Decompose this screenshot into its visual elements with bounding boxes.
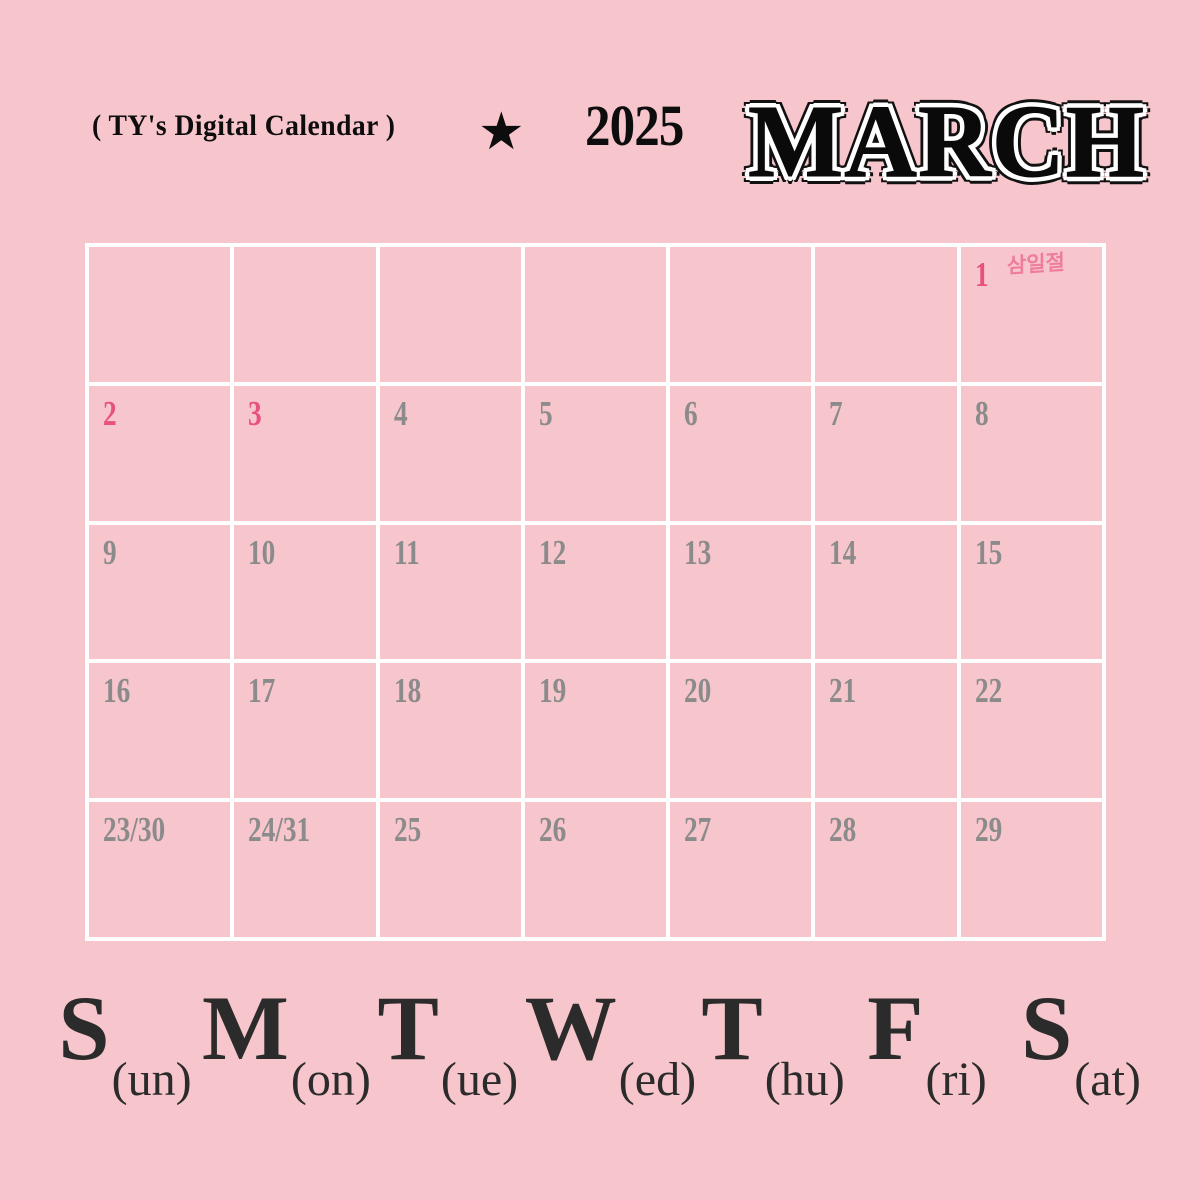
day-number: 29 <box>975 808 1002 852</box>
star-icon: ★ <box>478 107 525 159</box>
day-number: 6 <box>684 392 698 436</box>
day-number: 8 <box>975 392 989 436</box>
day-number: 3 <box>248 392 262 436</box>
day-number: 1 <box>975 253 989 297</box>
weekday-tuesday: T(ue) <box>371 980 525 1076</box>
calendar-day-cell[interactable]: 4 <box>380 386 521 521</box>
weekday-monday: M(on) <box>202 980 371 1076</box>
calendar-day-cell[interactable]: 12 <box>525 525 666 660</box>
weekday-initial: W <box>525 980 617 1076</box>
day-number: 4 <box>394 392 408 436</box>
calendar-day-cell[interactable]: 17 <box>234 663 375 798</box>
weekday-initial: F <box>867 980 923 1076</box>
month-title: MARCH <box>748 77 1145 207</box>
weekday-thursday: T(hu) <box>696 980 850 1076</box>
calendar-day-cell[interactable]: 14 <box>815 525 956 660</box>
weekday-saturday: S(at) <box>1004 980 1158 1076</box>
weekday-initial: S <box>1021 980 1072 1076</box>
weekday-initial: T <box>701 980 762 1076</box>
calendar-day-cell[interactable] <box>89 247 230 382</box>
weekday-suffix: (ri) <box>925 1055 986 1105</box>
weekday-suffix: (un) <box>112 1055 192 1105</box>
calendar-grid: 1삼일절234567891011121314151617181920212223… <box>85 243 1106 941</box>
day-number: 24/31 <box>248 808 310 852</box>
day-number: 15 <box>975 531 1002 575</box>
calendar-day-cell[interactable] <box>670 247 811 382</box>
day-number: 25 <box>394 808 421 852</box>
calendar-day-cell[interactable]: 8 <box>961 386 1102 521</box>
calendar-day-cell[interactable]: 16 <box>89 663 230 798</box>
weekday-suffix: (hu) <box>765 1055 845 1105</box>
weekday-friday: F(ri) <box>850 980 1004 1076</box>
weekday-suffix: (ue) <box>441 1055 518 1105</box>
day-number: 13 <box>684 531 711 575</box>
weekday-initial: S <box>58 980 109 1076</box>
calendar-day-cell[interactable] <box>234 247 375 382</box>
weekday-legend: S(un)M(on)T(ue)W(ed)T(hu)F(ri)S(at) <box>48 980 1158 1120</box>
calendar-day-cell[interactable]: 29 <box>961 802 1102 937</box>
day-number: 26 <box>539 808 566 852</box>
day-number: 27 <box>684 808 711 852</box>
calendar-day-cell[interactable] <box>525 247 666 382</box>
calendar-day-cell[interactable]: 5 <box>525 386 666 521</box>
weekday-sunday: S(un) <box>48 980 202 1076</box>
day-number: 20 <box>684 669 711 713</box>
weekday-suffix: (ed) <box>619 1055 696 1105</box>
day-number: 17 <box>248 669 275 713</box>
calendar-day-cell[interactable]: 10 <box>234 525 375 660</box>
calendar-page: { "header": { "brand": "( TY's Digital C… <box>0 0 1200 1200</box>
day-number: 16 <box>103 669 130 713</box>
weekday-suffix: (on) <box>291 1055 371 1105</box>
year-label: 2025 <box>585 91 684 161</box>
calendar-day-cell[interactable]: 2 <box>89 386 230 521</box>
day-number: 7 <box>829 392 843 436</box>
calendar-day-cell[interactable] <box>815 247 956 382</box>
calendar-day-cell[interactable]: 13 <box>670 525 811 660</box>
calendar-day-cell[interactable]: 7 <box>815 386 956 521</box>
calendar-day-cell[interactable]: 19 <box>525 663 666 798</box>
weekday-initial: M <box>202 980 289 1076</box>
calendar-day-cell[interactable]: 22 <box>961 663 1102 798</box>
calendar-day-cell[interactable]: 9 <box>89 525 230 660</box>
day-number: 5 <box>539 392 553 436</box>
day-number: 18 <box>394 669 421 713</box>
calendar-day-cell[interactable]: 18 <box>380 663 521 798</box>
day-number: 9 <box>103 531 117 575</box>
calendar-day-cell[interactable]: 6 <box>670 386 811 521</box>
weekday-wednesday: W(ed) <box>525 980 696 1076</box>
day-note: 삼일절 <box>1007 251 1065 279</box>
calendar-day-cell[interactable] <box>380 247 521 382</box>
day-number: 19 <box>539 669 566 713</box>
calendar-day-cell[interactable]: 11 <box>380 525 521 660</box>
calendar-header: ( TY's Digital Calendar ) ★ 2025 MARCH <box>0 85 1200 215</box>
calendar-day-cell[interactable]: 1삼일절 <box>961 247 1102 382</box>
day-number: 11 <box>394 531 420 575</box>
day-number: 2 <box>103 392 117 436</box>
calendar-day-cell[interactable]: 21 <box>815 663 956 798</box>
day-number: 14 <box>829 531 856 575</box>
calendar-day-cell[interactable]: 27 <box>670 802 811 937</box>
calendar-day-cell[interactable]: 20 <box>670 663 811 798</box>
day-number: 22 <box>975 669 1002 713</box>
calendar-day-cell[interactable]: 3 <box>234 386 375 521</box>
day-number: 10 <box>248 531 275 575</box>
calendar-day-cell[interactable]: 15 <box>961 525 1102 660</box>
day-number: 28 <box>829 808 856 852</box>
weekday-suffix: (at) <box>1074 1055 1141 1105</box>
day-number: 12 <box>539 531 566 575</box>
day-number: 23/30 <box>103 808 165 852</box>
calendar-day-cell[interactable]: 28 <box>815 802 956 937</box>
weekday-initial: T <box>377 980 438 1076</box>
brand-title: ( TY's Digital Calendar ) <box>92 109 395 143</box>
calendar-day-cell[interactable]: 23/30 <box>89 802 230 937</box>
calendar-day-cell[interactable]: 25 <box>380 802 521 937</box>
calendar-day-cell[interactable]: 24/31 <box>234 802 375 937</box>
calendar-day-cell[interactable]: 26 <box>525 802 666 937</box>
day-number: 21 <box>829 669 856 713</box>
